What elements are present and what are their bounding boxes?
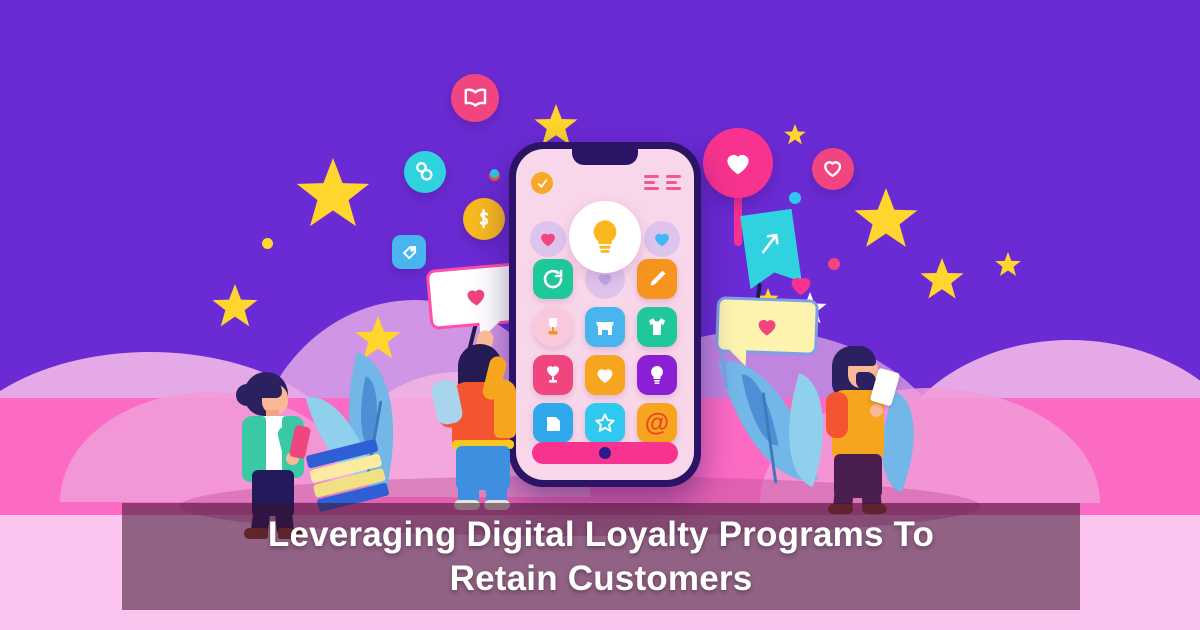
- app-grid: @: [533, 259, 677, 443]
- heart-icon: [786, 270, 816, 300]
- link-icon: [412, 159, 437, 184]
- heart-ghost-right: [644, 221, 680, 257]
- open-book-icon: [461, 84, 490, 113]
- tag-icon: [399, 242, 419, 262]
- heart-app-icon[interactable]: [585, 355, 625, 395]
- store-icon: [593, 315, 617, 339]
- phone-notch: [572, 149, 638, 165]
- heart-outline-icon: [820, 156, 845, 181]
- trophy-icon: [541, 315, 565, 339]
- gift-bag-icon: [541, 411, 565, 435]
- home-button[interactable]: [599, 447, 611, 459]
- dot-icon: [490, 169, 499, 178]
- shirt-icon: [645, 315, 669, 339]
- arrow-ribbon-icon: [754, 224, 786, 262]
- hair-front: [254, 378, 282, 398]
- coin-bubble: [463, 198, 505, 240]
- heart-icon: [593, 363, 617, 387]
- heart-outline-bubble: [812, 148, 854, 190]
- heart-ghost-left: [530, 221, 566, 257]
- heart-trophy-icon: [541, 363, 565, 387]
- man-with-tablet-right: [812, 344, 922, 514]
- heart-icon: [719, 146, 757, 180]
- lightbulb-icon: [645, 363, 669, 387]
- hamburger-menu-icon: [644, 175, 681, 190]
- email-app-icon[interactable]: @: [637, 403, 677, 443]
- hair-top: [838, 346, 876, 366]
- jacket-accent: [826, 392, 848, 438]
- hero-lightbulb-badge: [569, 201, 641, 273]
- heart-icon: [537, 228, 559, 250]
- banner-illustration: @: [0, 0, 1200, 630]
- phone-dock: [532, 442, 678, 464]
- heart-icon: [651, 228, 673, 250]
- dot-icon: [789, 192, 801, 204]
- refresh-icon: [541, 267, 565, 291]
- dollar-coin-icon: [471, 206, 496, 231]
- star-dot-icon: [262, 238, 273, 249]
- heart-icon: [460, 281, 492, 311]
- pin-head: [703, 128, 773, 198]
- dot-icon: [828, 258, 840, 270]
- store-app-icon[interactable]: [585, 307, 625, 347]
- title-line-1: Leveraging Digital Loyalty Programs To: [268, 513, 934, 557]
- heart-icon: [752, 312, 783, 340]
- shirt-app-icon[interactable]: [637, 307, 677, 347]
- at-sign-icon: @: [645, 411, 669, 436]
- title-line-2: Retain Customers: [450, 557, 753, 601]
- lightbulb-icon: [584, 216, 626, 258]
- tag-bubble: [392, 235, 426, 269]
- small-heart-shape: [786, 270, 816, 300]
- link-bubble: [404, 151, 446, 193]
- pencil-app-icon[interactable]: [637, 259, 677, 299]
- person-holding-sign-center: [432, 330, 542, 510]
- phone-screen: @: [516, 149, 694, 480]
- star-outline-icon: [593, 411, 617, 435]
- check-badge-icon: [531, 172, 553, 194]
- speech-bubble-heart-right: [715, 296, 819, 356]
- refresh-app-icon[interactable]: [533, 259, 573, 299]
- bulb-app-icon[interactable]: [637, 355, 677, 395]
- page-title: Leveraging Digital Loyalty Programs To R…: [122, 503, 1080, 610]
- pencil-icon: [645, 267, 669, 291]
- hand: [870, 404, 883, 417]
- star-app-icon[interactable]: [585, 403, 625, 443]
- book-bubble: [451, 74, 499, 122]
